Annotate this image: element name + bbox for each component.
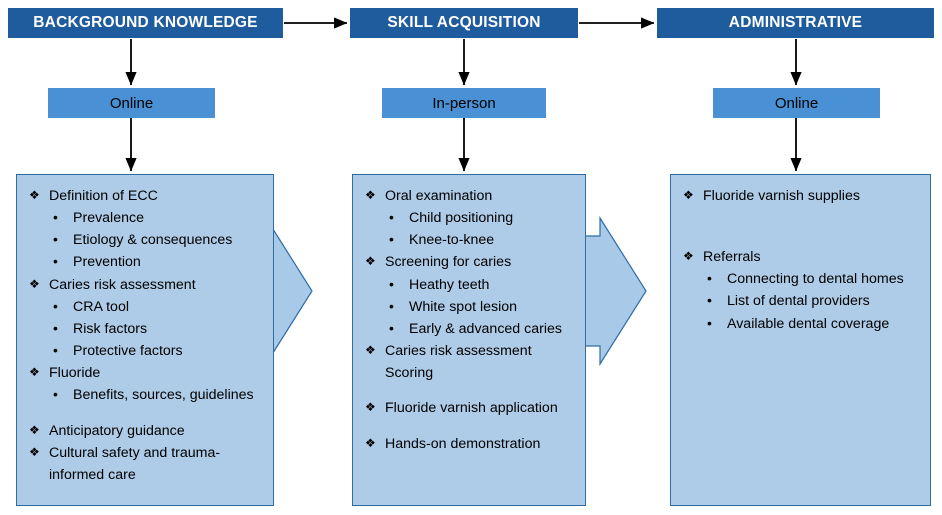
- content-list-background-knowledge: ❖Definition of ECC•Prevalence•Etiology &…: [27, 185, 265, 486]
- mode-background-knowledge[interactable]: Online: [48, 88, 215, 118]
- bullet-item-level2: •List of dental providers: [681, 290, 922, 312]
- header-background-knowledge[interactable]: BACKGROUND KNOWLEDGE: [8, 8, 283, 38]
- bullet-item-label: Referrals: [703, 249, 761, 265]
- list-spacer: [681, 220, 922, 233]
- sub-bullet-list: •Benefits, sources, guidelines: [27, 384, 265, 406]
- bullet-item-label: Fluoride varnish supplies: [703, 188, 860, 204]
- list-spacer: [363, 420, 577, 433]
- bullet-diamond-icon: ❖: [29, 274, 40, 295]
- mode-administrative[interactable]: Online: [713, 88, 880, 118]
- list-spacer: [681, 233, 922, 246]
- bullet-item-label: Oral examination: [385, 188, 492, 204]
- header-label: BACKGROUND KNOWLEDGE: [33, 14, 257, 32]
- process-flow-diagram: BACKGROUND KNOWLEDGE Online ❖Definition …: [0, 0, 942, 515]
- mode-label: Online: [110, 95, 153, 112]
- list-spacer: [681, 207, 922, 220]
- bullet-item-level2: •Protective factors: [27, 340, 265, 362]
- sub-bullet-list: •Heathy teeth•White spot lesion•Early & …: [363, 274, 577, 340]
- bullet-dot-icon: •: [707, 313, 712, 334]
- header-administrative[interactable]: ADMINISTRATIVE: [657, 8, 934, 38]
- bullet-item-level2: •Child positioning: [363, 207, 577, 229]
- mode-label: In-person: [432, 95, 495, 112]
- list-spacer: [27, 407, 265, 420]
- bullet-dot-icon: •: [389, 274, 394, 295]
- bullet-item-label: Caries risk assessment: [49, 277, 196, 293]
- bullet-diamond-icon: ❖: [365, 433, 376, 454]
- bullet-diamond-icon: ❖: [365, 340, 376, 361]
- bullet-item-label: Fluoride varnish application: [385, 400, 558, 416]
- bullet-dot-icon: •: [53, 251, 58, 272]
- bullet-item-label: Available dental coverage: [727, 316, 889, 332]
- bullet-item-level2: •Knee-to-knee: [363, 229, 577, 251]
- bullet-dot-icon: •: [389, 229, 394, 250]
- bullet-item-label: CRA tool: [73, 299, 129, 315]
- bullet-item-label: Hands-on demonstration: [385, 436, 540, 452]
- bullet-dot-icon: •: [53, 296, 58, 317]
- bullet-item-level1: ❖Caries risk assessment Scoring: [363, 340, 577, 384]
- bullet-item-level2: •White spot lesion: [363, 296, 577, 318]
- bullet-item-label: Child positioning: [409, 210, 513, 226]
- content-list-skill-acquisition: ❖Oral examination•Child positioning•Knee…: [363, 185, 577, 455]
- bullet-diamond-icon: ❖: [365, 397, 376, 418]
- bullet-item-level1: ❖Fluoride varnish application: [363, 397, 577, 419]
- bullet-item-label: Benefits, sources, guidelines: [73, 387, 254, 403]
- bullet-item-label: Screening for caries: [385, 254, 511, 270]
- bullet-dot-icon: •: [707, 268, 712, 289]
- bullet-item-level2: •Available dental coverage: [681, 313, 922, 335]
- bullet-item-level1: ❖Hands-on demonstration: [363, 433, 577, 455]
- sub-bullet-list: •Prevalence•Etiology & consequences•Prev…: [27, 207, 265, 273]
- bullet-diamond-icon: ❖: [29, 362, 40, 383]
- bullet-diamond-icon: ❖: [365, 251, 376, 272]
- bullet-dot-icon: •: [53, 340, 58, 361]
- mode-skill-acquisition[interactable]: In-person: [382, 88, 546, 118]
- bullet-dot-icon: •: [389, 296, 394, 317]
- bullet-item-level1: ❖Definition of ECC: [27, 185, 265, 207]
- bullet-item-label: Early & advanced caries: [409, 321, 562, 337]
- bullet-dot-icon: •: [53, 384, 58, 405]
- bullet-dot-icon: •: [707, 290, 712, 311]
- header-label: SKILL ACQUISITION: [387, 14, 540, 32]
- sub-bullet-list: •Connecting to dental homes•List of dent…: [681, 268, 922, 334]
- sub-bullet-list: •Child positioning•Knee-to-knee: [363, 207, 577, 251]
- bullet-item-level1: ❖Caries risk assessment: [27, 274, 265, 296]
- bullet-diamond-icon: ❖: [683, 185, 694, 206]
- bullet-item-label: Cultural safety and trauma-informed care: [49, 445, 220, 483]
- bullet-item-label: Knee-to-knee: [409, 232, 494, 248]
- bullet-item-label: Heathy teeth: [409, 277, 489, 293]
- mode-label: Online: [775, 95, 818, 112]
- bullet-item-level1: ❖Anticipatory guidance: [27, 420, 265, 442]
- bullet-item-label: Prevention: [73, 254, 141, 270]
- bullet-item-level2: •Prevalence: [27, 207, 265, 229]
- bullet-dot-icon: •: [389, 318, 394, 339]
- bullet-item-label: Prevalence: [73, 210, 144, 226]
- bullet-diamond-icon: ❖: [29, 420, 40, 441]
- sub-bullet-list: •CRA tool•Risk factors•Protective factor…: [27, 296, 265, 362]
- bullet-dot-icon: •: [53, 229, 58, 250]
- bullet-item-level1: ❖Screening for caries: [363, 251, 577, 273]
- content-list-administrative: ❖Fluoride varnish supplies❖Referrals•Con…: [681, 185, 922, 335]
- bullet-item-label: Risk factors: [73, 321, 147, 337]
- bullet-item-level1: ❖Fluoride: [27, 362, 265, 384]
- bullet-item-label: Fluoride: [49, 365, 100, 381]
- content-skill-acquisition[interactable]: ❖Oral examination•Child positioning•Knee…: [352, 174, 586, 506]
- bullet-dot-icon: •: [53, 207, 58, 228]
- bullet-item-level2: •Early & advanced caries: [363, 318, 577, 340]
- bullet-item-label: Caries risk assessment Scoring: [385, 343, 532, 381]
- bullet-item-level1: ❖Oral examination: [363, 185, 577, 207]
- bullet-item-level2: •Risk factors: [27, 318, 265, 340]
- bullet-diamond-icon: ❖: [29, 185, 40, 206]
- content-administrative[interactable]: ❖Fluoride varnish supplies❖Referrals•Con…: [670, 174, 931, 506]
- bullet-item-label: Connecting to dental homes: [727, 271, 904, 287]
- bullet-item-level2: •Etiology & consequences: [27, 229, 265, 251]
- bullet-diamond-icon: ❖: [29, 442, 40, 463]
- bullet-item-label: Etiology & consequences: [73, 232, 232, 248]
- bullet-item-label: List of dental providers: [727, 293, 870, 309]
- bullet-item-label: White spot lesion: [409, 299, 517, 315]
- bullet-item-level2: •Heathy teeth: [363, 274, 577, 296]
- bullet-diamond-icon: ❖: [365, 185, 376, 206]
- bullet-dot-icon: •: [53, 318, 58, 339]
- bullet-diamond-icon: ❖: [683, 246, 694, 267]
- header-label: ADMINISTRATIVE: [729, 14, 862, 32]
- bullet-item-level2: •Connecting to dental homes: [681, 268, 922, 290]
- bullet-item-level1: ❖Fluoride varnish supplies: [681, 185, 922, 207]
- bullet-item-level1: ❖Referrals: [681, 246, 922, 268]
- header-skill-acquisition[interactable]: SKILL ACQUISITION: [350, 8, 578, 38]
- bullet-item-level2: •CRA tool: [27, 296, 265, 318]
- content-background-knowledge[interactable]: ❖Definition of ECC•Prevalence•Etiology &…: [16, 174, 274, 506]
- bullet-item-label: Definition of ECC: [49, 188, 158, 204]
- bullet-item-label: Protective factors: [73, 343, 183, 359]
- bullet-item-label: Anticipatory guidance: [49, 423, 185, 439]
- bullet-item-level1: ❖Cultural safety and trauma-informed car…: [27, 442, 265, 486]
- bullet-item-level2: •Prevention: [27, 251, 265, 273]
- bullet-item-level2: •Benefits, sources, guidelines: [27, 384, 265, 406]
- bullet-dot-icon: •: [389, 207, 394, 228]
- list-spacer: [363, 384, 577, 397]
